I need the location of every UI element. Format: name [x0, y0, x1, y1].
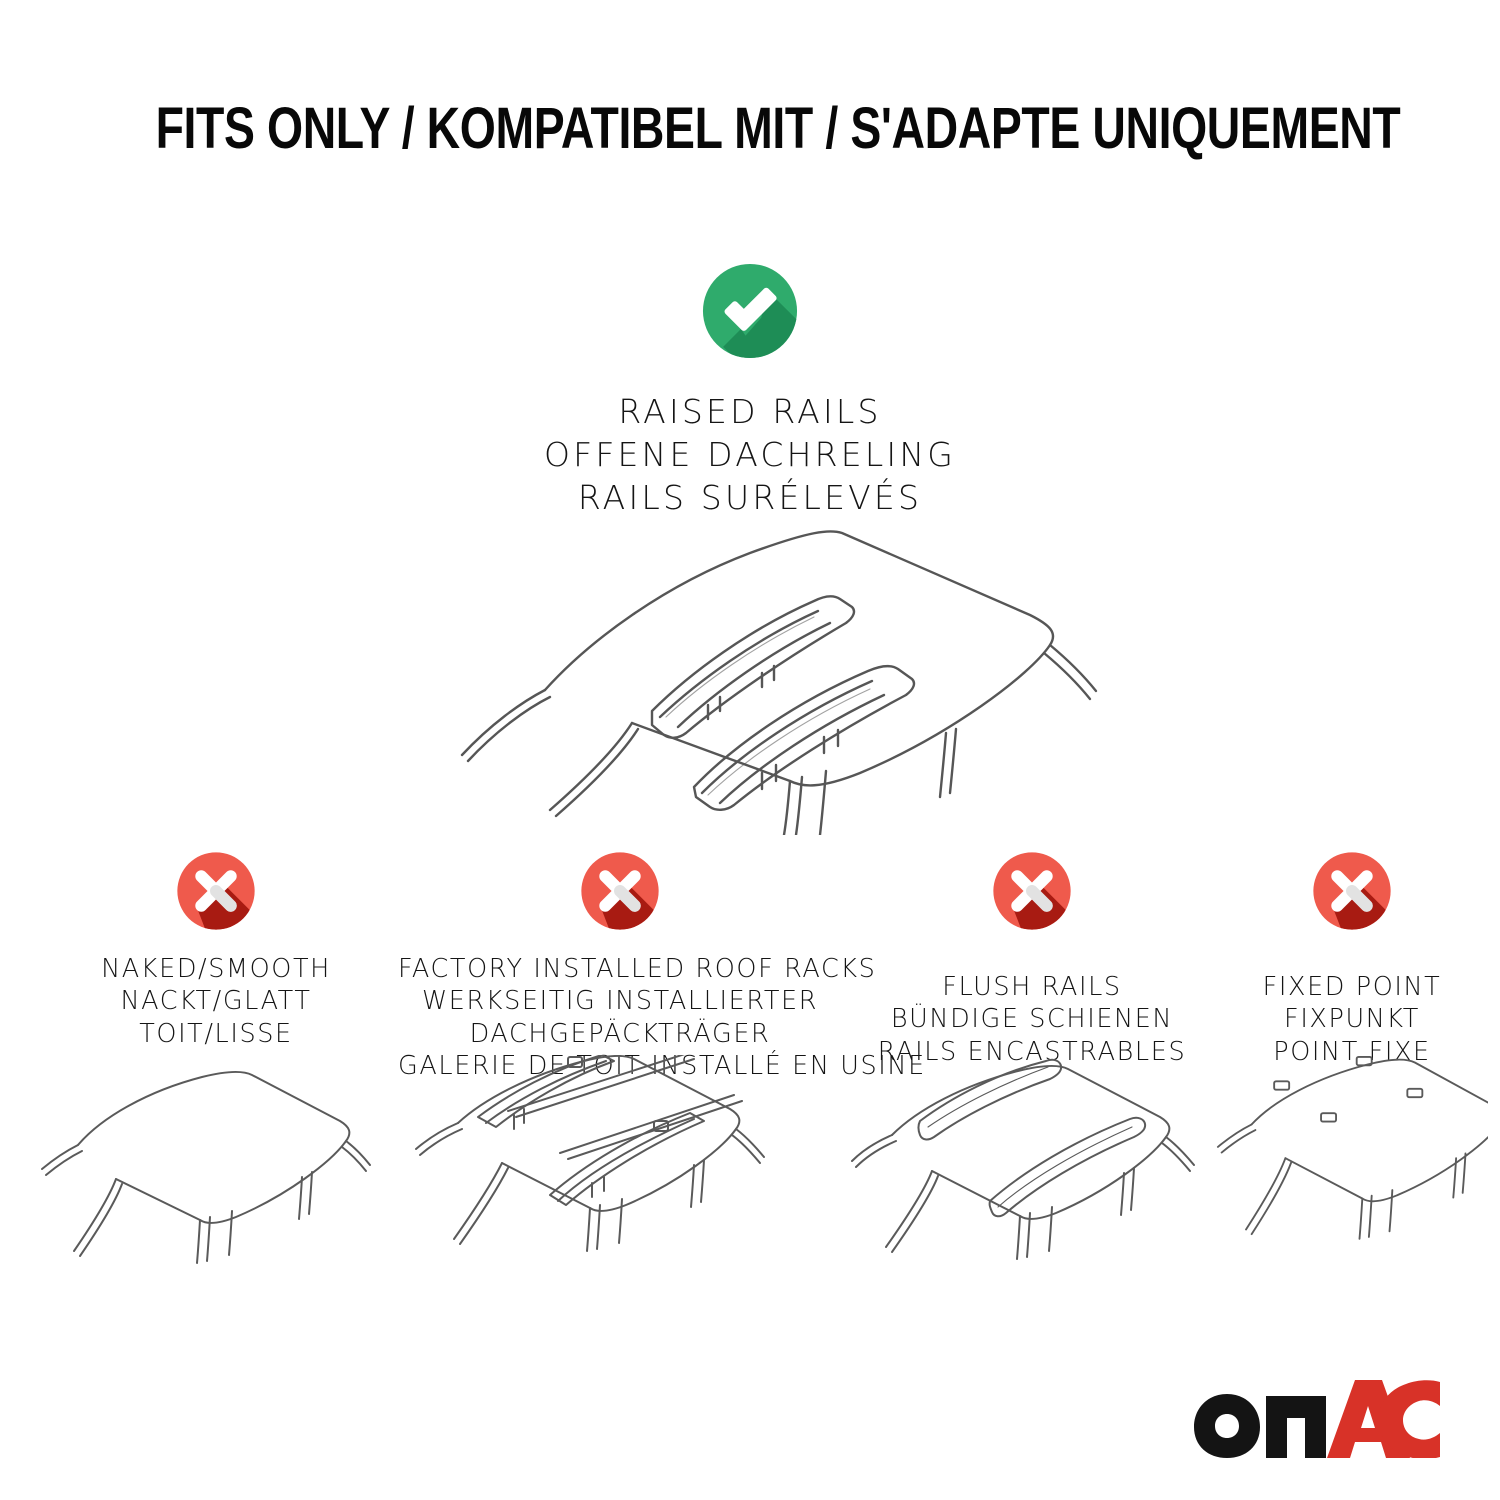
caption-line-en: NAKED/SMOOTH — [40, 953, 392, 985]
caption-line-de: NACKT/GLATT — [40, 985, 392, 1017]
incompatible-item-factory-roof-racks: FACTORY INSTALLED ROOF RACKS WERKSEITIG … — [398, 845, 842, 1083]
caption-line-de-1: WERKSEITIG INSTALLIERTER — [398, 985, 842, 1017]
caption-line-en: FACTORY INSTALLED ROOF RACKS — [398, 953, 842, 985]
incompatible-item-naked-smooth: NAKED/SMOOTH NACKT/GLATT TOIT/LISSE — [40, 845, 392, 1050]
incompatible-caption: NAKED/SMOOTH NACKT/GLATT TOIT/LISSE — [40, 953, 392, 1050]
x-circle-icon — [986, 845, 1078, 937]
caption-line-de: FIXPUNKT — [1216, 1003, 1488, 1035]
incompatible-caption: FLUSH RAILS BÜNDIGE SCHIENEN RAILS ENCAS… — [848, 971, 1216, 1068]
car-roof-flush-rails-illustration — [848, 1055, 1216, 1285]
compatible-caption: RAISED RAILS OFFENE DACHRELING RAILS SUR… — [0, 391, 1500, 520]
caption-line-en: FLUSH RAILS — [848, 971, 1216, 1003]
caption-line-en: FIXED POINT — [1216, 971, 1488, 1003]
incompatible-item-flush-rails: FLUSH RAILS BÜNDIGE SCHIENEN RAILS ENCAS… — [848, 845, 1216, 1068]
car-roof-factory-roof-racks-illustration — [398, 1055, 842, 1285]
x-circle-icon — [574, 845, 666, 937]
x-circle-icon — [170, 845, 262, 937]
car-roof-naked-smooth-illustration — [40, 1055, 392, 1285]
check-circle-icon — [694, 255, 806, 367]
logo-letter-o — [1194, 1394, 1260, 1458]
compatible-line-de: OFFENE DACHRELING — [0, 434, 1500, 477]
caption-line-fr: TOIT/LISSE — [40, 1018, 392, 1050]
compatible-section: RAISED RAILS OFFENE DACHRELING RAILS SUR… — [0, 255, 1500, 520]
logo-letter-m — [1266, 1396, 1326, 1458]
incompatible-caption: FIXED POINT FIXPUNKT POINT FIXE — [1216, 971, 1488, 1068]
omac-logo — [1192, 1380, 1442, 1458]
caption-line-de-2: DACHGEPÄCKTRÄGER — [398, 1018, 842, 1050]
x-circle-icon — [1306, 845, 1398, 937]
page-title: FITS ONLY / KOMPATIBEL MIT / S'ADAPTE UN… — [0, 100, 1500, 158]
car-roof-fixed-point-illustration — [1216, 1055, 1488, 1271]
page-title-text: FITS ONLY / KOMPATIBEL MIT / S'ADAPTE UN… — [156, 100, 1401, 158]
compatible-line-en: RAISED RAILS — [0, 391, 1500, 434]
incompatible-item-fixed-point: FIXED POINT FIXPUNKT POINT FIXE — [1216, 845, 1488, 1068]
car-roof-raised-rails-illustration — [390, 505, 1130, 835]
caption-line-de: BÜNDIGE SCHIENEN — [848, 1003, 1216, 1035]
